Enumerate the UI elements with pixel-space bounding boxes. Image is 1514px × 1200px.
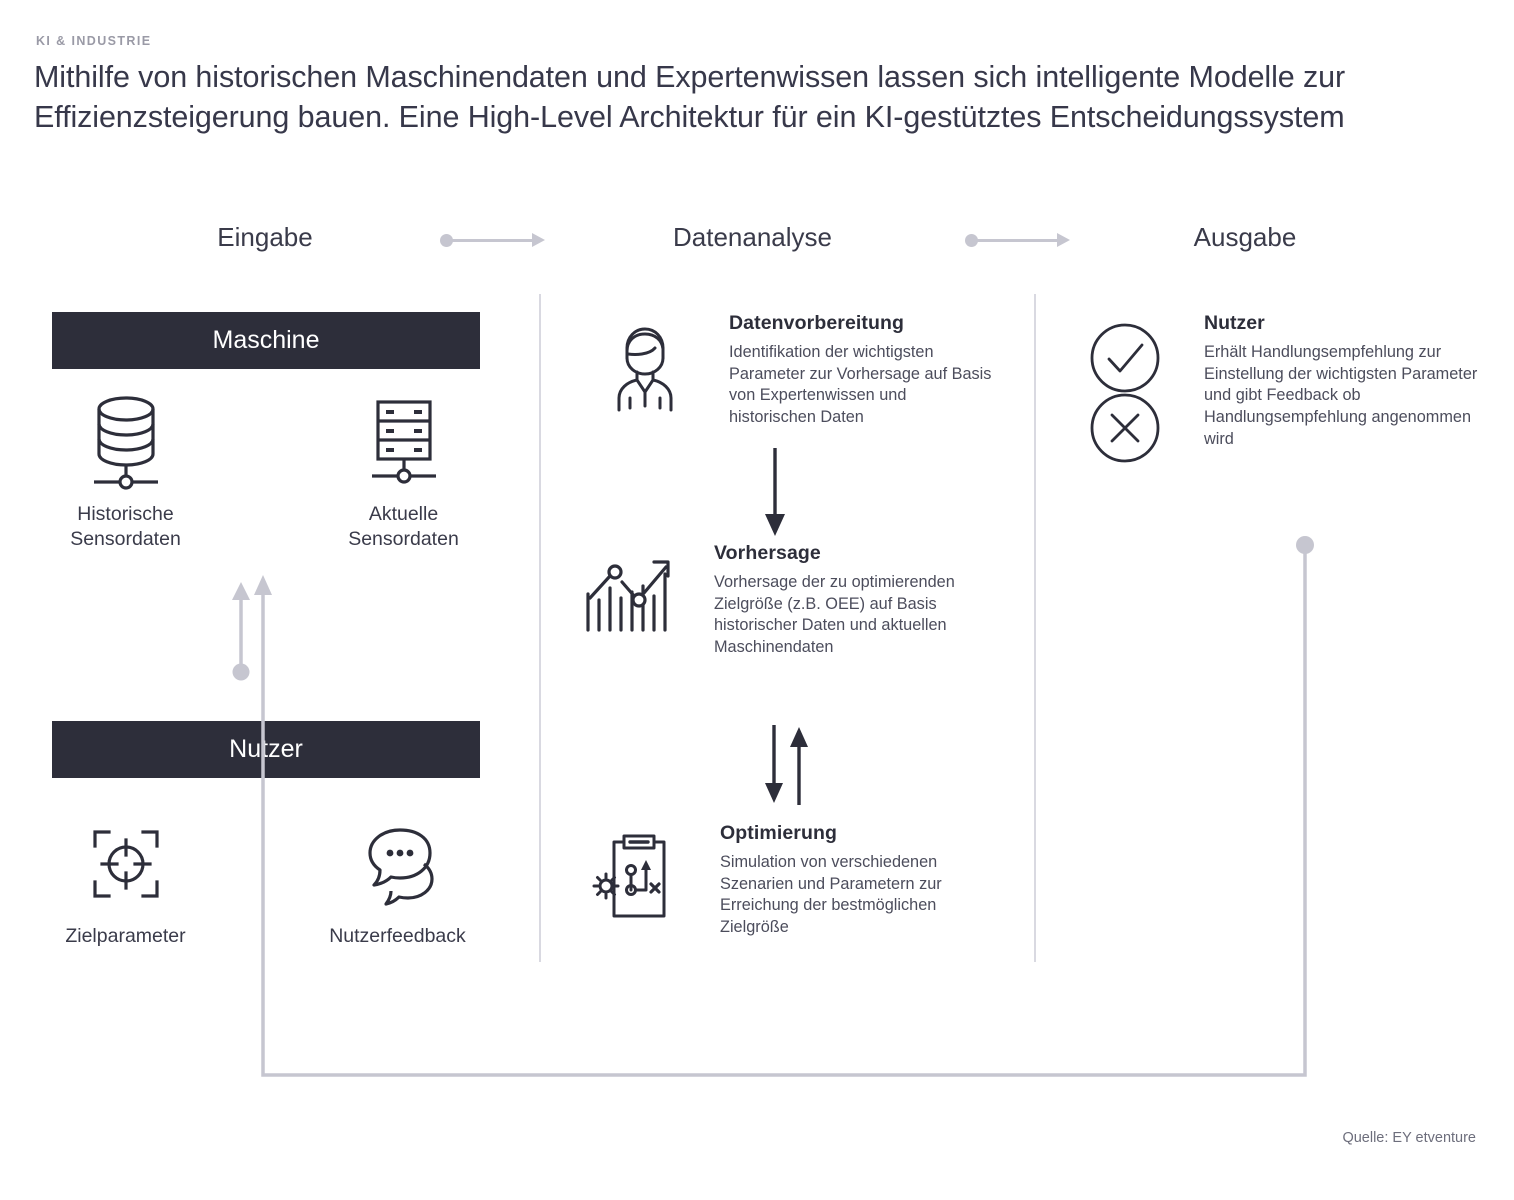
- flow-arrow-datenvorbereitung-to-vorhersage: [762, 448, 788, 538]
- x-circle-icon: [1092, 395, 1158, 461]
- page-title: Mithilfe von historischen Maschinendaten…: [34, 57, 1384, 138]
- output-block-body: Erhält Handlungsempfehlung zur Einstellu…: [1204, 342, 1504, 450]
- stage-label-datenanalyse: Datenanalyse: [640, 222, 865, 253]
- check-circle-icon: [1092, 325, 1158, 391]
- output-block-text: Nutzer Erhält Handlungsempfehlung zur Ei…: [1204, 312, 1504, 450]
- analysis-block-title: Datenvorbereitung: [729, 312, 997, 335]
- section-header-maschine: Maschine: [52, 312, 480, 369]
- input-item-historische-sensordaten: Historische Sensordaten: [18, 390, 233, 552]
- arrow-head: [1057, 233, 1070, 247]
- server-rack-icon: [296, 390, 511, 494]
- arrow-head: [532, 233, 545, 247]
- analysis-block-body: Identifikation der wichtigsten Parameter…: [729, 342, 997, 429]
- eyebrow-label: KI & INDUSTRIE: [36, 34, 151, 48]
- input-item-label: Zielparameter: [18, 924, 233, 949]
- input-item-zielparameter: Zielparameter: [18, 812, 233, 949]
- input-item-label: Historische Sensordaten: [18, 502, 233, 552]
- output-icons: [1087, 320, 1169, 460]
- feedback-loop-ausgabe-to-eingabe: [250, 535, 1325, 1095]
- output-block-title: Nutzer: [1204, 312, 1504, 335]
- target-crosshair-icon: [18, 812, 233, 916]
- stage-arrow-eingabe-to-datenanalyse: [440, 230, 550, 250]
- stage-label-eingabe: Eingabe: [155, 222, 375, 253]
- arrow-shaft: [449, 239, 534, 242]
- input-item-aktuelle-sensordaten: Aktuelle Sensordaten: [296, 390, 511, 552]
- person-expert-icon: [597, 318, 693, 414]
- database-icon: [18, 390, 233, 494]
- source-note: Quelle: EY etventure: [1342, 1130, 1476, 1146]
- analysis-block-text: Datenvorbereitung Identifikation der wic…: [729, 312, 997, 429]
- stage-label-ausgabe: Ausgabe: [1135, 222, 1355, 253]
- stage-arrow-datenanalyse-to-ausgabe: [965, 230, 1075, 250]
- diagram-canvas: KI & INDUSTRIE Mithilfe von historischen…: [0, 0, 1514, 1200]
- arrow-shaft: [974, 239, 1059, 242]
